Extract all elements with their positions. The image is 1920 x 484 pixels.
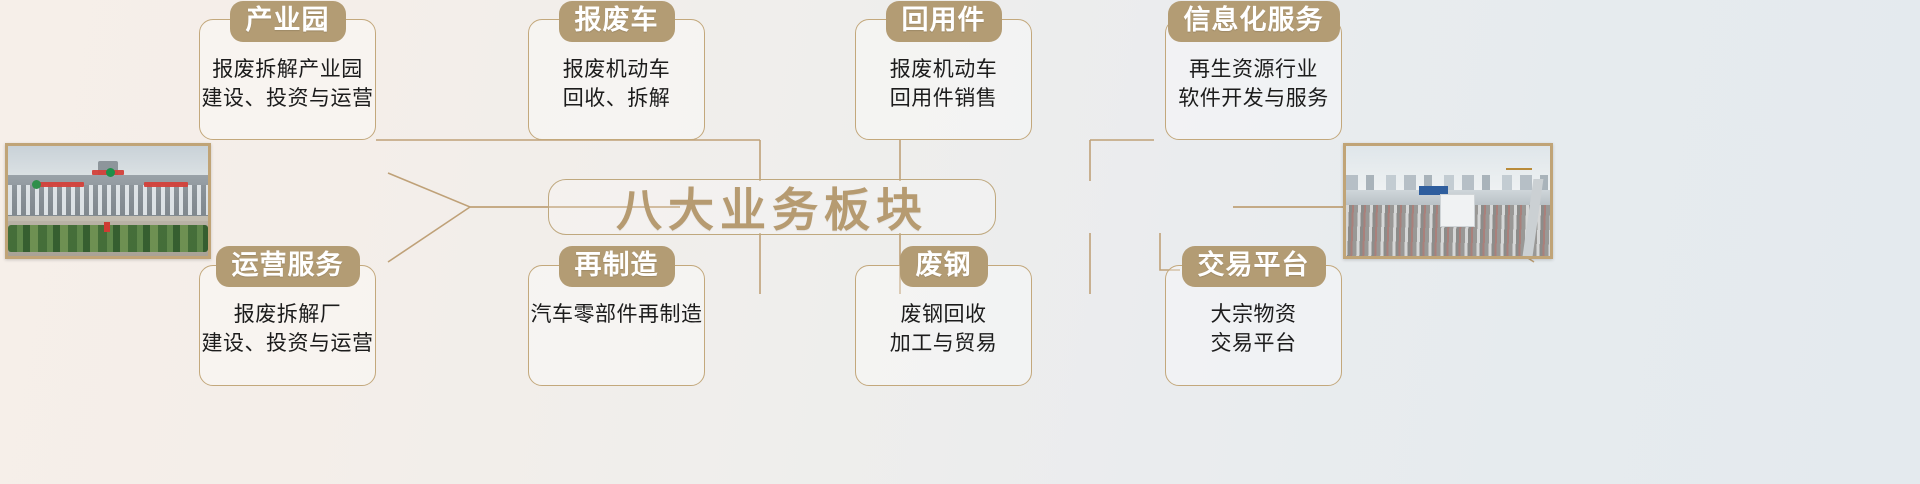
card-description: 再生资源行业 软件开发与服务 xyxy=(1178,56,1329,114)
card-title-pill: 信息化服务 xyxy=(1168,1,1340,42)
photo-flag xyxy=(104,222,110,232)
card-description: 汽车零部件再制造 xyxy=(531,301,703,330)
card-title-pill: 废钢 xyxy=(900,246,988,287)
card-top-3[interactable]: 回用件 报废机动车 回用件销售 xyxy=(855,19,1032,140)
card-title-pill: 回用件 xyxy=(886,1,1002,42)
card-title-pill: 交易平台 xyxy=(1182,246,1326,287)
card-title-pill: 运营服务 xyxy=(216,246,360,287)
card-description: 报废机动车 回收、拆解 xyxy=(563,56,671,114)
photo-crane xyxy=(1506,168,1532,170)
card-top-1[interactable]: 产业园 报废拆解产业园 建设、投资与运营 xyxy=(199,19,376,140)
card-bottom-1[interactable]: 运营服务 报废拆解厂 建设、投资与运营 xyxy=(199,265,376,386)
card-description: 报废机动车 回用件销售 xyxy=(890,56,998,114)
photo-sign-right xyxy=(144,182,188,187)
card-description: 报废拆解厂 建设、投资与运营 xyxy=(202,301,374,359)
card-description: 大宗物资 交易平台 xyxy=(1211,301,1297,359)
card-description: 报废拆解产业园 建设、投资与运营 xyxy=(202,56,374,114)
card-title-pill: 报废车 xyxy=(559,1,675,42)
photo-white-building xyxy=(1440,194,1475,227)
card-title-pill: 再制造 xyxy=(559,246,675,287)
photo-sign-left xyxy=(36,182,84,187)
card-top-4[interactable]: 信息化服务 再生资源行业 软件开发与服务 xyxy=(1165,19,1342,140)
dismantling-yard-aerial-photo xyxy=(1343,143,1553,259)
center-node[interactable]: 八大业务板块 xyxy=(548,179,996,235)
card-bottom-3[interactable]: 废钢 废钢回收 加工与贸易 xyxy=(855,265,1032,386)
card-title-pill: 产业园 xyxy=(230,1,346,42)
card-bottom-4[interactable]: 交易平台 大宗物资 交易平台 xyxy=(1165,265,1342,386)
photo-logo-badge xyxy=(106,168,115,177)
card-bottom-2[interactable]: 再制造 汽车零部件再制造 xyxy=(528,265,705,386)
card-top-2[interactable]: 报废车 报废机动车 回收、拆解 xyxy=(528,19,705,140)
card-description: 废钢回收 加工与贸易 xyxy=(890,301,998,359)
center-node-title: 八大业务板块 xyxy=(616,174,928,240)
headquarters-building-photo xyxy=(5,143,211,259)
diagram-canvas: 产业园 报废拆解产业园 建设、投资与运营 报废车 报废机动车 回收、拆解 回用件… xyxy=(0,0,1920,484)
